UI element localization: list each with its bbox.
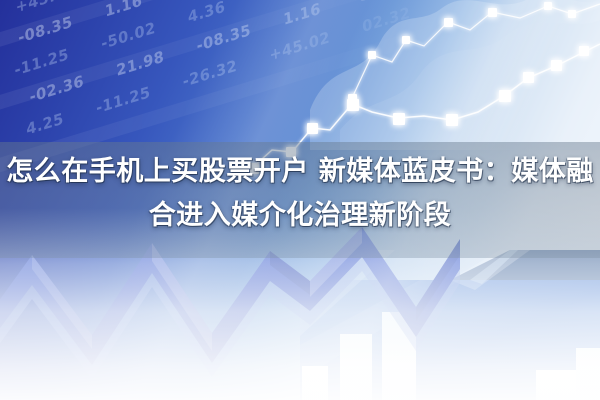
headline-line-1: 怎么在手机上买股票开户 新媒体蓝皮书：媒体融 (0, 150, 600, 194)
page-title: 怎么在手机上买股票开户 新媒体蓝皮书：媒体融 合进入媒介化治理新阶段 (0, 150, 600, 238)
stock-news-banner: -02.36 -11.25 +45.02 -08.35 21.98 -45.02… (0, 0, 600, 400)
headline-line-2: 合进入媒介化治理新阶段 (0, 194, 600, 238)
